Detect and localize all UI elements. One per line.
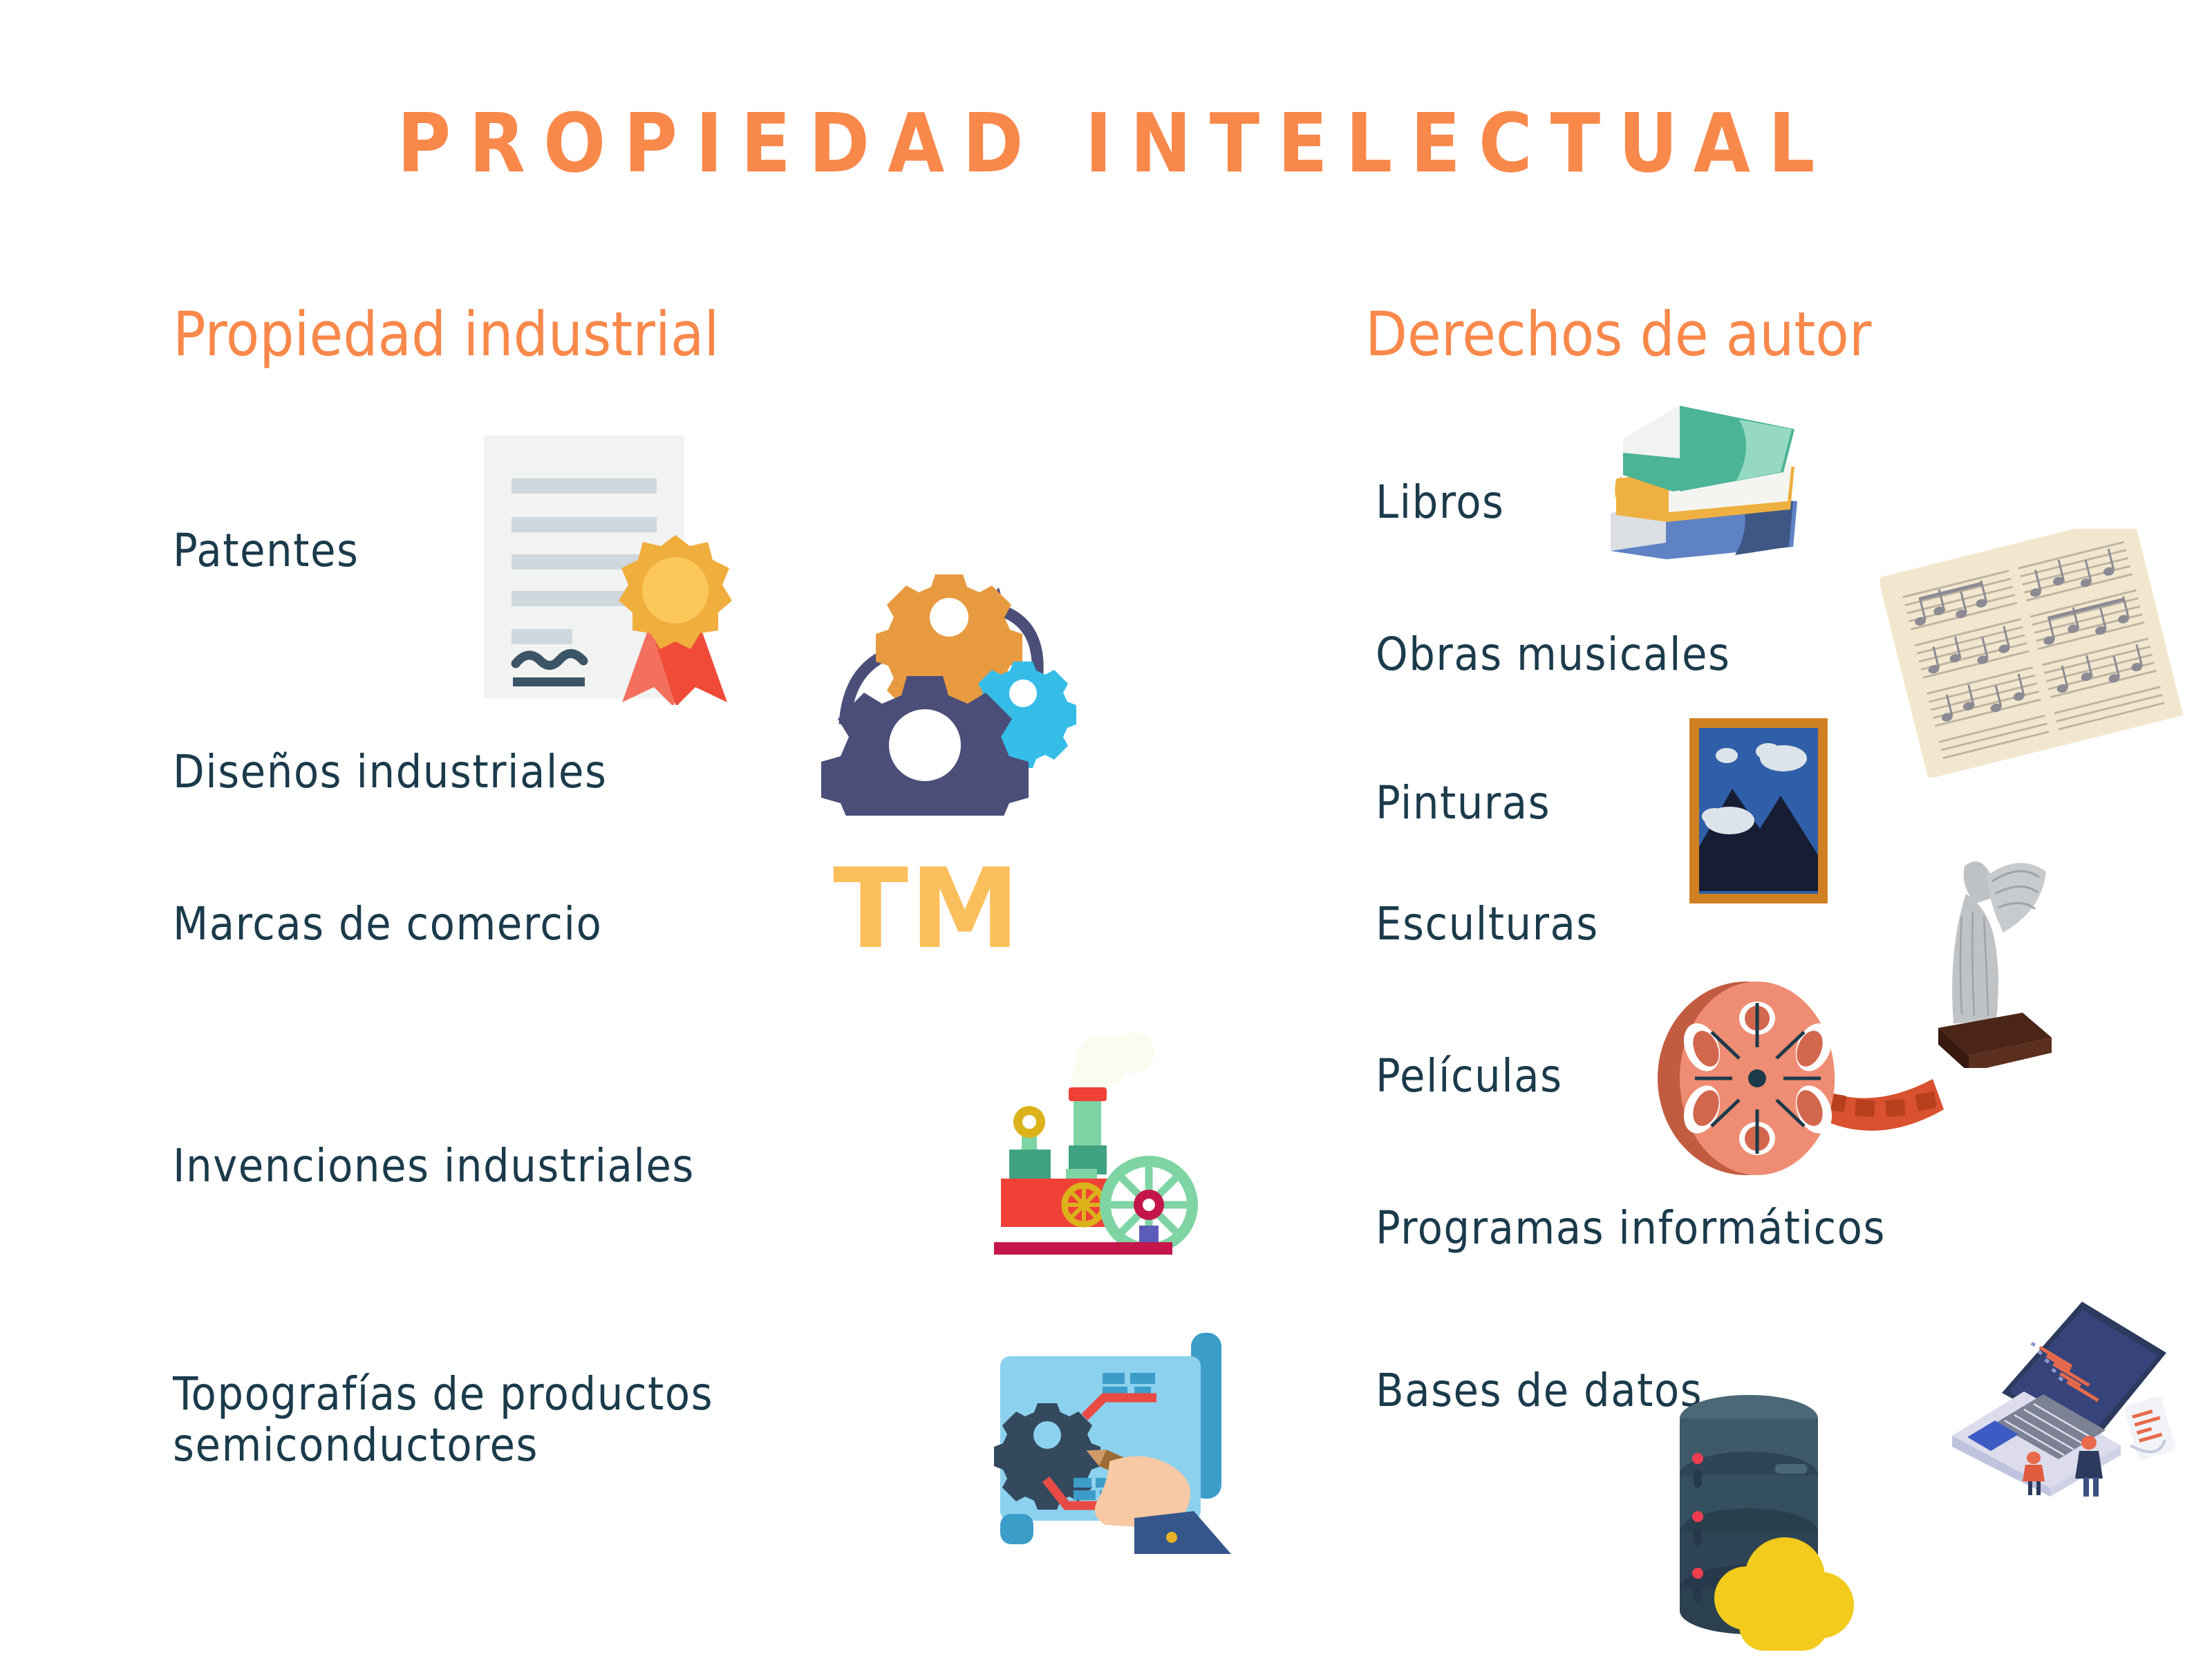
book-stack-icon xyxy=(1604,397,1825,563)
list-item-invenciones-industriales: Invenciones industriales xyxy=(173,1141,695,1192)
certificate-award-icon xyxy=(477,435,753,705)
film-reel-icon xyxy=(1652,978,1970,1179)
framed-painting-icon xyxy=(1687,715,1839,916)
laptop-code-icon xyxy=(1929,1289,2191,1497)
tm-mark-icon: TM xyxy=(833,854,1021,964)
list-item-peliculas: Películas xyxy=(1376,1051,1563,1102)
database-cloud-icon xyxy=(1659,1389,1866,1652)
steam-engine-icon xyxy=(961,1033,1237,1272)
list-item-bases-de-datos: Bases de datos xyxy=(1376,1365,1703,1416)
list-item-libros: Libros xyxy=(1376,477,1504,528)
infographic-canvas: PROPIEDAD INTELECTUAL Propiedad industri… xyxy=(0,0,2212,1659)
blueprint-drafting-icon xyxy=(964,1313,1241,1555)
page-title: PROPIEDAD INTELECTUAL xyxy=(0,102,2212,184)
list-item-pinturas: Pinturas xyxy=(1376,778,1550,829)
column-heading-industrial: Propiedad industrial xyxy=(173,304,719,365)
column-heading-derechos-autor: Derechos de autor xyxy=(1365,304,1871,365)
gears-icon xyxy=(809,546,1078,816)
list-item-marcas-de-comercio: Marcas de comercio xyxy=(173,899,602,950)
list-item-programas-informaticos: Programas informáticos xyxy=(1376,1203,1886,1254)
list-item-patentes: Patentes xyxy=(173,525,359,577)
list-item-obras-musicales: Obras musicales xyxy=(1376,629,1730,680)
list-item-topografias-semiconductores: Topografías de productos semiconductores xyxy=(173,1369,713,1471)
sheet-music-icon xyxy=(1880,529,2184,778)
list-item-esculturas: Esculturas xyxy=(1376,899,1599,950)
list-item-disenos-industriales: Diseños industriales xyxy=(173,747,607,798)
